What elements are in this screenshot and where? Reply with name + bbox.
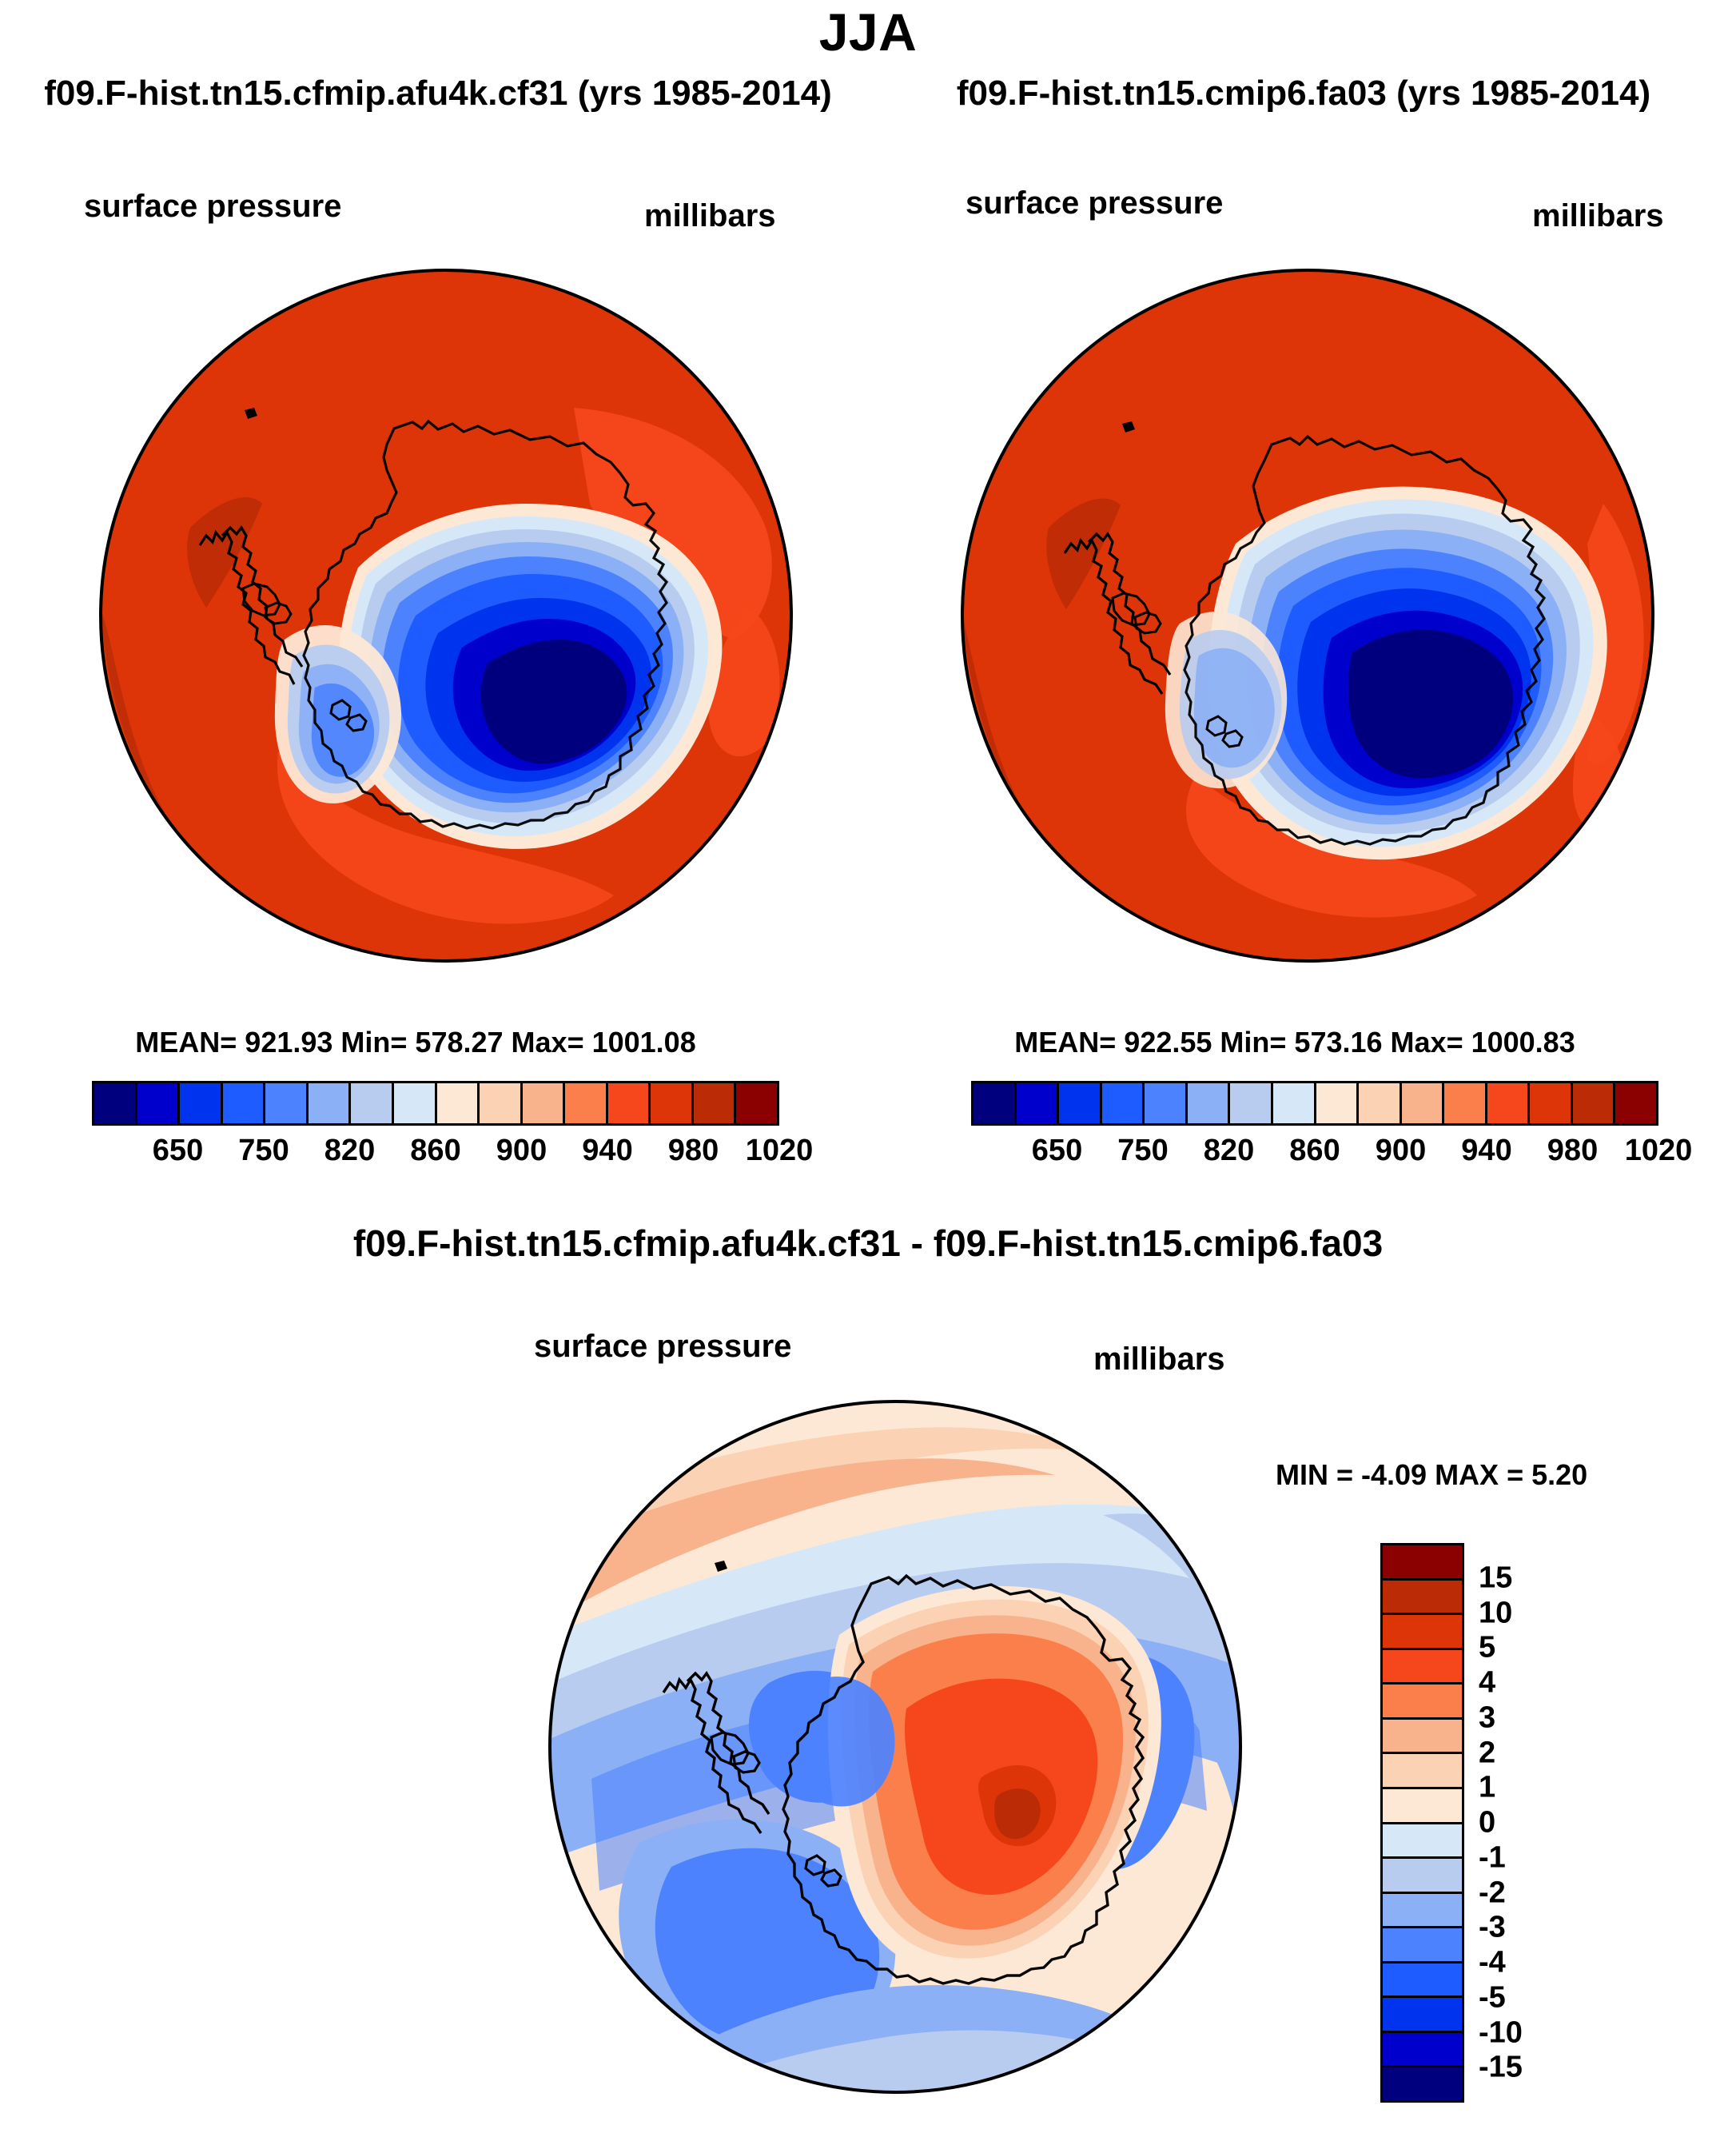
colorbar-tick-label: -5: [1479, 1980, 1506, 2015]
colorbar-tick-label: 940: [582, 1134, 632, 1168]
colorbar-tick-label: 0: [1479, 1806, 1495, 1840]
colorbar-right-ticks: 6507508208609009409801020: [971, 1134, 1658, 1182]
colorbar-swatch: [1383, 1545, 1462, 1581]
colorbar-difference-ticks: 1510543210-1-2-3-4-5-10-15: [1479, 1543, 1638, 2103]
colorbar-swatch: [1383, 2067, 1462, 2100]
colorbar-swatch: [1188, 1083, 1231, 1123]
colorbar-swatch: [1383, 1720, 1462, 1755]
variable-label-difference: surface pressure: [534, 1329, 791, 1365]
units-label-difference: millibars: [1093, 1342, 1225, 1378]
colorbar-tick-label: -3: [1479, 1911, 1506, 1945]
colorbar-tick-label: -2: [1479, 1876, 1506, 1910]
colorbar-tick-label: 15: [1479, 1561, 1512, 1595]
colorbar-swatch: [309, 1083, 352, 1123]
colorbar-swatch: [1359, 1083, 1402, 1123]
colorbar-swatch: [180, 1083, 223, 1123]
colorbar-tick-label: -1: [1479, 1840, 1506, 1875]
colorbar-swatch: [1383, 1859, 1462, 1894]
colorbar-swatch: [1383, 1650, 1462, 1685]
colorbar-swatch: [1059, 1083, 1102, 1123]
colorbar-swatch: [1402, 1083, 1445, 1123]
colorbar-swatch: [1383, 1998, 1462, 2033]
colorbar-swatch: [1383, 1928, 1462, 1964]
colorbar-tick-label: 10: [1479, 1596, 1512, 1630]
page-title: JJA: [0, 2, 1736, 62]
colorbar-swatch: [223, 1083, 266, 1123]
colorbar-tick-label: 980: [1547, 1134, 1598, 1168]
colorbar-right[interactable]: [971, 1081, 1658, 1126]
difference-minmax: MIN = -4.09 MAX = 5.20: [1276, 1458, 1587, 1492]
colorbar-swatch: [523, 1083, 566, 1123]
difference-title: f09.F-hist.tn15.cfmip.afu4k.cf31 - f09.F…: [0, 1222, 1736, 1265]
colorbar-swatch: [1573, 1083, 1616, 1123]
colorbar-swatch: [1273, 1083, 1316, 1123]
colorbar-swatch: [1530, 1083, 1573, 1123]
colorbar-tick-label: 820: [1204, 1134, 1254, 1168]
colorbar-swatch: [1383, 1615, 1462, 1650]
colorbar-swatch: [351, 1083, 394, 1123]
colorbar-swatch: [608, 1083, 651, 1123]
colorbar-tick-label: -10: [1479, 2015, 1523, 2050]
colorbar-swatch: [1145, 1083, 1188, 1123]
colorbar-tick-label: 650: [153, 1134, 203, 1168]
colorbar-tick-label: 940: [1461, 1134, 1511, 1168]
colorbar-swatch: [1383, 1581, 1462, 1616]
colorbar-tick-label: 750: [238, 1134, 289, 1168]
colorbar-swatch: [394, 1083, 437, 1123]
colorbar-swatch: [94, 1083, 137, 1123]
polar-map-difference: [543, 1395, 1247, 2099]
colorbar-swatch: [1383, 1964, 1462, 1999]
colorbar-swatch: [1383, 1754, 1462, 1789]
colorbar-swatch: [1230, 1083, 1273, 1123]
colorbar-swatch: [1316, 1083, 1360, 1123]
colorbar-tick-label: 3: [1479, 1700, 1495, 1735]
units-label-right: millibars: [1532, 198, 1664, 234]
colorbar-swatch: [1017, 1083, 1060, 1123]
colorbar-tick-label: 900: [1376, 1134, 1426, 1168]
colorbar-tick-label: 980: [668, 1134, 719, 1168]
colorbar-tick-label: -15: [1479, 2051, 1523, 2085]
map-left-absolute[interactable]: [94, 264, 798, 967]
colorbar-tick-label: 900: [496, 1134, 547, 1168]
colorbar-swatch: [1383, 1824, 1462, 1860]
colorbar-swatch: [265, 1083, 309, 1123]
colorbar-swatch: [736, 1083, 777, 1123]
case-title-right: f09.F-hist.tn15.cmip6.fa03 (yrs 1985-201…: [871, 74, 1736, 114]
colorbar-difference[interactable]: [1380, 1543, 1464, 2103]
colorbar-tick-label: 860: [410, 1134, 460, 1168]
colorbar-swatch: [1383, 1685, 1462, 1720]
colorbar-left[interactable]: [92, 1081, 779, 1126]
variable-label-left: surface pressure: [84, 189, 341, 225]
units-label-left: millibars: [644, 198, 776, 234]
colorbar-tick-label: 5: [1479, 1631, 1495, 1665]
colorbar-swatch: [437, 1083, 480, 1123]
colorbar-left-ticks: 6507508208609009409801020: [92, 1134, 779, 1182]
map-difference[interactable]: [543, 1395, 1247, 2099]
colorbar-swatch: [1383, 2033, 1462, 2068]
colorbar-swatch: [1444, 1083, 1487, 1123]
colorbar-swatch: [1487, 1083, 1531, 1123]
colorbar-tick-label: 1: [1479, 1771, 1495, 1805]
colorbar-tick-label: 650: [1032, 1134, 1082, 1168]
colorbar-swatch: [565, 1083, 608, 1123]
polar-map-right: [956, 264, 1659, 967]
colorbar-swatch: [651, 1083, 694, 1123]
colorbar-tick-label: 2: [1479, 1736, 1495, 1770]
colorbar-swatch: [137, 1083, 181, 1123]
colorbar-tick-label: 860: [1289, 1134, 1340, 1168]
colorbar-tick-label: 820: [325, 1134, 375, 1168]
colorbar-swatch: [1102, 1083, 1145, 1123]
colorbar-tick-label: 1020: [746, 1134, 814, 1168]
colorbar-tick-label: -4: [1479, 1946, 1506, 1980]
case-title-left: f09.F-hist.tn15.cfmip.afu4k.cf31 (yrs 19…: [0, 74, 876, 114]
colorbar-swatch: [974, 1083, 1017, 1123]
stats-left: MEAN= 921.93 Min= 578.27 Max= 1001.08: [48, 1026, 783, 1059]
colorbar-swatch: [1615, 1083, 1656, 1123]
colorbar-swatch: [480, 1083, 523, 1123]
map-right-absolute[interactable]: [956, 264, 1659, 967]
colorbar-tick-label: 1020: [1625, 1134, 1693, 1168]
colorbar-tick-label: 750: [1117, 1134, 1168, 1168]
colorbar-swatch: [1383, 1789, 1462, 1824]
colorbar-tick-label: 4: [1479, 1666, 1495, 1700]
variable-label-right: surface pressure: [966, 185, 1223, 221]
colorbar-swatch: [694, 1083, 737, 1123]
stats-right: MEAN= 922.55 Min= 573.16 Max= 1000.83: [927, 1026, 1662, 1059]
colorbar-swatch: [1383, 1894, 1462, 1929]
polar-map-left: [94, 264, 798, 967]
